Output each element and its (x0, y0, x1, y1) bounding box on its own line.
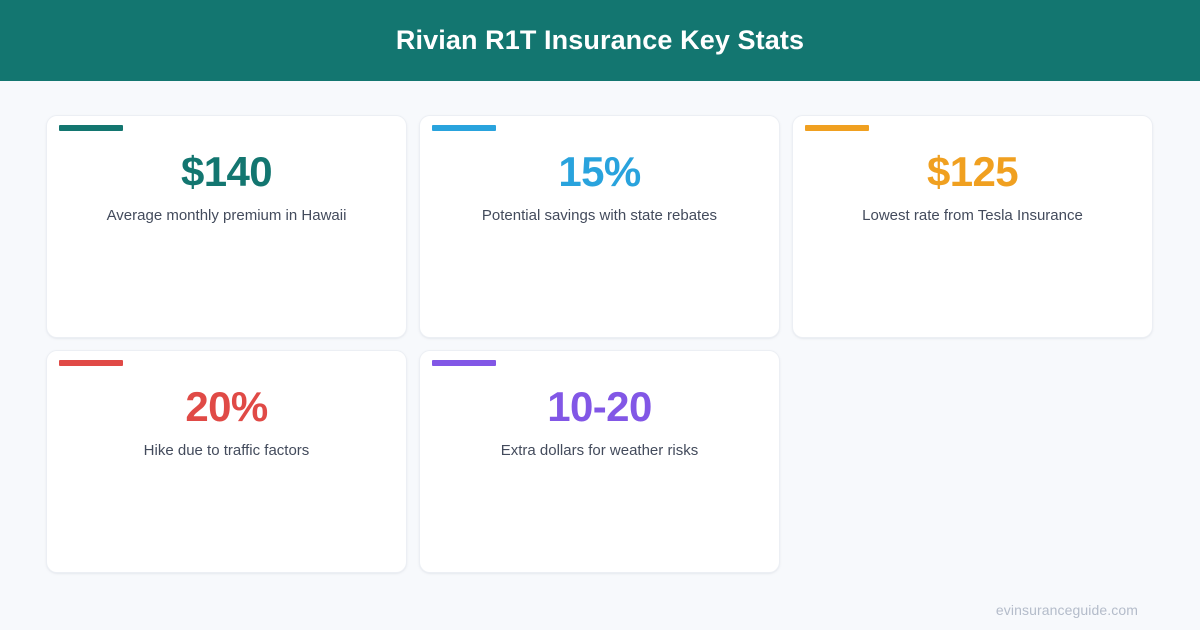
stat-value: $140 (47, 149, 406, 195)
stat-card: $125 Lowest rate from Tesla Insurance (792, 115, 1153, 338)
stat-card: $140 Average monthly premium in Hawaii (46, 115, 407, 338)
accent-bar-icon (59, 125, 123, 131)
stat-value: 15% (420, 149, 779, 195)
stat-label: Hike due to traffic factors (47, 441, 406, 461)
stat-card-grid: $140 Average monthly premium in Hawaii 1… (46, 115, 1154, 573)
accent-bar-icon (432, 125, 496, 131)
stat-value: 10-20 (420, 384, 779, 430)
stat-label: Lowest rate from Tesla Insurance (793, 206, 1152, 226)
header-banner: Rivian R1T Insurance Key Stats (0, 0, 1200, 81)
page-title: Rivian R1T Insurance Key Stats (396, 27, 804, 54)
accent-bar-icon (432, 360, 496, 366)
stat-label: Average monthly premium in Hawaii (47, 206, 406, 226)
stat-value: 20% (47, 384, 406, 430)
infographic-root: Rivian R1T Insurance Key Stats $140 Aver… (0, 0, 1200, 630)
stat-card: 15% Potential savings with state rebates (419, 115, 780, 338)
stat-value: $125 (793, 149, 1152, 195)
accent-bar-icon (805, 125, 869, 131)
stat-card: 20% Hike due to traffic factors (46, 350, 407, 573)
source-watermark: evinsuranceguide.com (996, 602, 1138, 618)
stat-label: Potential savings with state rebates (420, 206, 779, 226)
stat-label: Extra dollars for weather risks (420, 441, 779, 461)
stat-card: 10-20 Extra dollars for weather risks (419, 350, 780, 573)
accent-bar-icon (59, 360, 123, 366)
